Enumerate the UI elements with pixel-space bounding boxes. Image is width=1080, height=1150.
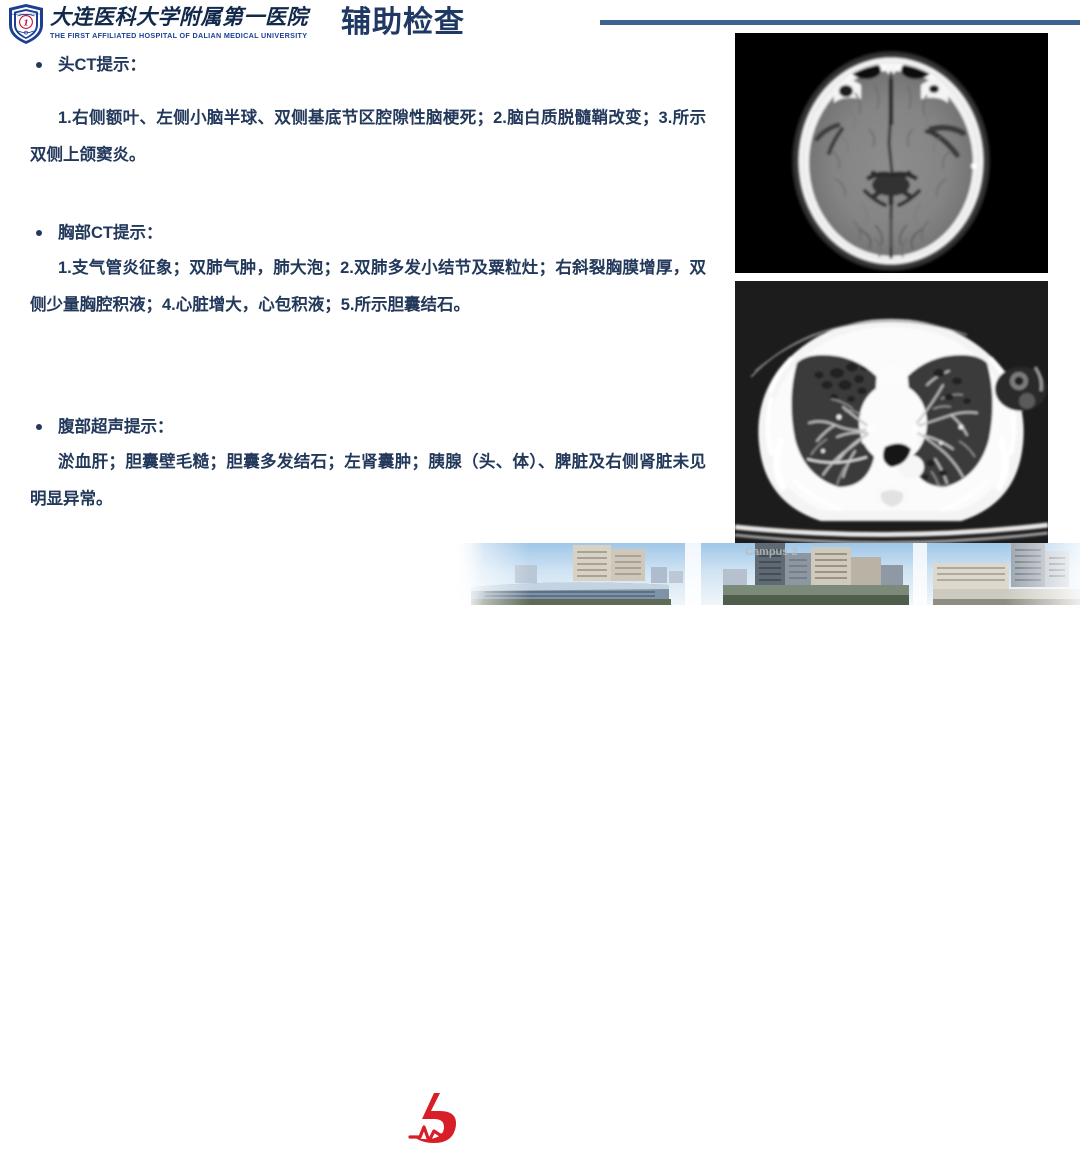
hospital-wordmark: 大连医科大学附属第一医院 THE FIRST AFFILIATED HOSPIT…	[50, 4, 332, 44]
section-head-ct: 头CT提示： 1.右侧额叶、左侧小脑半球、双侧基底节区腔隙性脑梗死；2.脑白质脱…	[0, 52, 720, 174]
hospital-name-cn: 大连医科大学附属第一医院	[50, 4, 332, 30]
bullet-icon	[36, 62, 42, 68]
section-abd-us-heading-text: 腹部超声提示：	[58, 418, 174, 436]
section-chest-ct-heading-text: 胸部CT提示：	[58, 224, 163, 242]
chest-ct-axial-lung-window	[735, 281, 1048, 545]
section-abd-us-heading: 腹部超声提示：	[0, 414, 720, 440]
svg-text:1: 1	[23, 17, 29, 27]
university-shield-emblem-icon: 1 DALIAN MEDICAL UNIVERSITY	[6, 3, 46, 45]
bullet-icon	[36, 230, 42, 236]
section-chest-ct: 胸部CT提示： 1.支气管炎征象；双肺气肿，肺大泡；2.双肺多发小结节及粟粒灶；…	[0, 220, 720, 324]
header-divider-rule	[600, 20, 1080, 25]
section-head-ct-heading: 头CT提示：	[0, 52, 720, 78]
hospital-red-ecg-logo-icon	[404, 1089, 466, 1145]
bullet-icon	[36, 424, 42, 430]
section-head-ct-heading-text: 头CT提示：	[58, 56, 146, 74]
slide-footer: Campus 2	[0, 543, 1080, 605]
hospital-campus-photo-strip: Campus 2	[455, 543, 1080, 605]
svg-text:DALIAN MEDICAL UNIVERSITY: DALIAN MEDICAL UNIVERSITY	[11, 13, 42, 16]
page-title: 辅助检查	[341, 4, 465, 42]
section-chest-ct-body: 1.支气管炎征象；双肺气肿，肺大泡；2.双肺多发小结节及粟粒灶；右斜裂胸膜增厚，…	[0, 250, 720, 324]
findings-text-column: 头CT提示： 1.右侧额叶、左侧小脑半球、双侧基底节区腔隙性脑梗死；2.脑白质脱…	[0, 52, 720, 532]
section-abd-us-body: 淤血肝；胆囊壁毛糙；胆囊多发结石；左肾囊肿；胰腺（头、体）、脾脏及右侧肾脏未见明…	[0, 444, 720, 518]
hospital-name-en: THE FIRST AFFILIATED HOSPITAL OF DALIAN …	[50, 31, 332, 41]
section-abdominal-ultrasound: 腹部超声提示： 淤血肝；胆囊壁毛糙；胆囊多发结石；左肾囊肿；胰腺（头、体）、脾脏…	[0, 414, 720, 518]
section-chest-ct-heading: 胸部CT提示：	[0, 220, 720, 246]
section-head-ct-body: 1.右侧额叶、左侧小脑半球、双侧基底节区腔隙性脑梗死；2.脑白质脱髓鞘改变；3.…	[0, 100, 720, 174]
head-ct-axial-scan	[735, 33, 1048, 273]
